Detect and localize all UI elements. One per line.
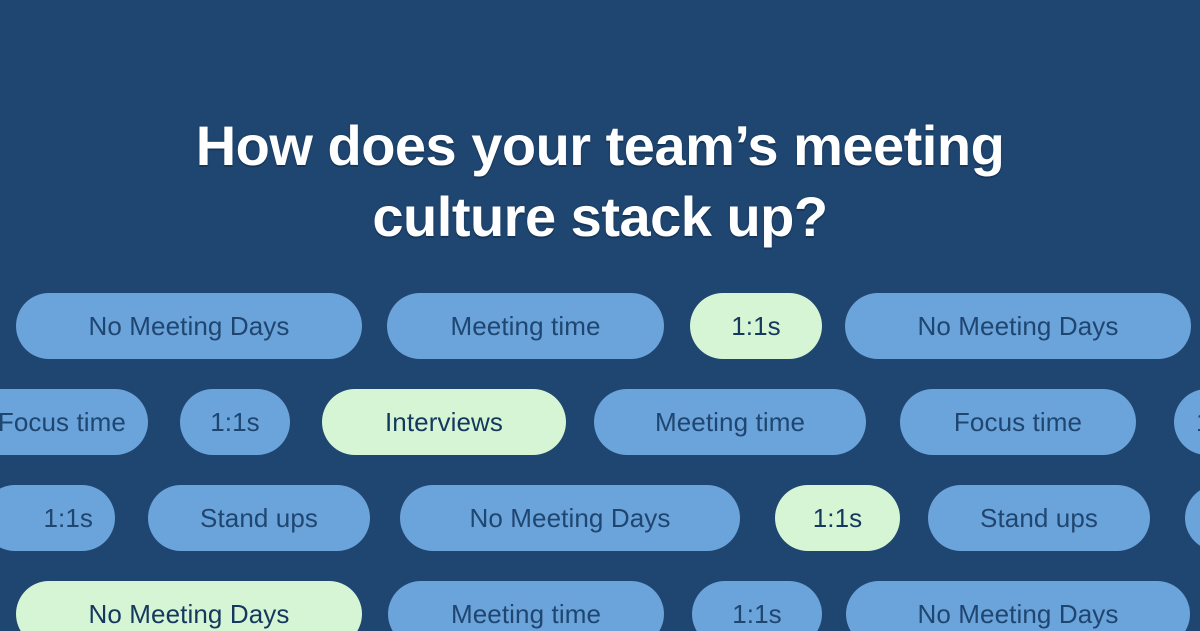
pill-tag[interactable]: Focus time bbox=[0, 389, 148, 455]
pill-tag[interactable]: 1:1s bbox=[1185, 485, 1200, 551]
pill-tag-label: Focus time bbox=[954, 407, 1082, 438]
page-title: How does your team’s meeting culture sta… bbox=[0, 110, 1200, 253]
pill-tag-label: 1:1s bbox=[731, 311, 781, 342]
pill-tag-label: Focus time bbox=[0, 407, 126, 438]
pill-tag-label: No Meeting Days bbox=[470, 503, 671, 534]
pill-tag[interactable]: 1:1s bbox=[180, 389, 290, 455]
pill-tag[interactable]: Meeting time bbox=[594, 389, 866, 455]
pill-tag-label: Stand ups bbox=[980, 503, 1098, 534]
pill-tag[interactable]: Interviews bbox=[322, 389, 566, 455]
pill-row-1: No Meeting DaysMeeting time1:1sNo Meetin… bbox=[0, 293, 1200, 359]
pill-tag[interactable]: No Meeting Days bbox=[16, 581, 362, 631]
pill-tag[interactable]: No Meeting Days bbox=[16, 293, 362, 359]
pill-tag[interactable]: No Meeting Days bbox=[846, 581, 1190, 631]
pill-row-2: Focus time1:1sInterviewsMeeting timeFocu… bbox=[0, 389, 1200, 455]
pill-tag-label: Meeting time bbox=[655, 407, 805, 438]
page-title-line-2: culture stack up? bbox=[0, 181, 1200, 253]
pill-tag-label: 1:1s bbox=[1196, 407, 1200, 438]
promo-card: How does your team’s meeting culture sta… bbox=[0, 0, 1200, 631]
pill-tag-label: 1:1s bbox=[43, 503, 93, 534]
pill-tag[interactable]: Meeting time bbox=[388, 581, 664, 631]
pill-row-4: No Meeting DaysMeeting time1:1sNo Meetin… bbox=[0, 581, 1200, 631]
pill-tag-label: No Meeting Days bbox=[89, 599, 290, 630]
pill-tag[interactable]: 1:1s bbox=[775, 485, 900, 551]
pill-row-3: 1:1sStand upsNo Meeting Days1:1sStand up… bbox=[0, 485, 1200, 551]
pill-tag[interactable]: 1:1s bbox=[692, 581, 822, 631]
pill-tag-label: Meeting time bbox=[450, 311, 600, 342]
pill-tag[interactable]: Meeting time bbox=[387, 293, 664, 359]
pill-tag[interactable]: No Meeting Days bbox=[845, 293, 1191, 359]
pill-tag-label: No Meeting Days bbox=[89, 311, 290, 342]
pill-tag[interactable]: 1:1s bbox=[690, 293, 822, 359]
pill-tag-label: Meeting time bbox=[451, 599, 601, 630]
pill-tag-label: 1:1s bbox=[813, 503, 863, 534]
pill-tag[interactable]: 1:1s bbox=[1174, 389, 1200, 455]
pill-tag-label: Interviews bbox=[385, 407, 503, 438]
pill-tag[interactable]: Stand ups bbox=[148, 485, 370, 551]
pill-tag[interactable]: 1:1s bbox=[0, 485, 115, 551]
pill-tag-label: 1:1s bbox=[732, 599, 782, 630]
pill-tag[interactable]: No Meeting Days bbox=[400, 485, 740, 551]
page-title-line-1: How does your team’s meeting bbox=[0, 110, 1200, 182]
pill-tag[interactable]: Stand ups bbox=[928, 485, 1150, 551]
pill-tag-label: Stand ups bbox=[200, 503, 318, 534]
pill-tag-label: No Meeting Days bbox=[918, 311, 1119, 342]
pill-tag-label: 1:1s bbox=[210, 407, 260, 438]
pill-tag-label: No Meeting Days bbox=[918, 599, 1119, 630]
pill-tag[interactable]: Focus time bbox=[900, 389, 1136, 455]
